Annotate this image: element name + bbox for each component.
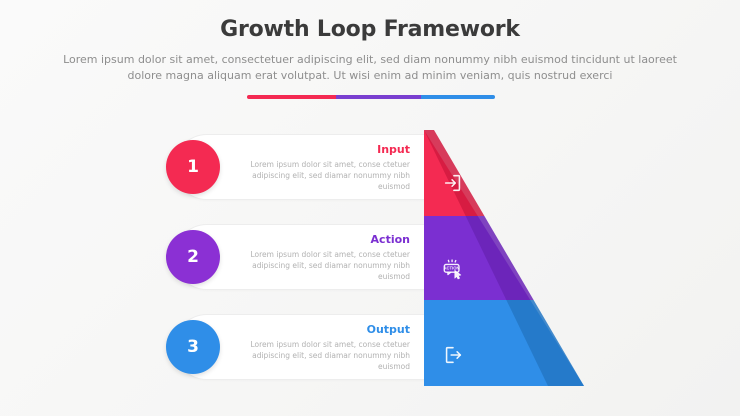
divider-segment-red [247,95,336,99]
list-item[interactable]: Output Lorem ipsum dolor sit amet, conse… [166,314,426,380]
step-description: Lorem ipsum dolor sit amet, conse ctetue… [242,339,410,372]
divider-segment-purple [336,95,420,99]
step-number: 1 [187,157,199,177]
step-card-text: Action Lorem ipsum dolor sit amet, conse… [242,233,410,282]
page-subtitle: Lorem ipsum dolor sit amet, consectetuer… [60,52,680,84]
step-number-badge: 1 [166,140,220,194]
step-number: 2 [187,247,199,267]
step-number-badge: 2 [166,230,220,284]
step-title: Output [242,323,410,337]
divider-segment-blue [421,95,495,99]
list-item[interactable]: Input Lorem ipsum dolor sit amet, conse … [166,134,426,200]
header: Growth Loop Framework Lorem ipsum dolor … [0,16,740,84]
step-number-badge: 3 [166,320,220,374]
step-description: Lorem ipsum dolor sit amet, conse ctetue… [242,249,410,282]
login-arrow-icon [442,172,464,194]
step-title: Input [242,143,410,157]
action-cursor-icon: ACTION [442,258,464,280]
step-description: Lorem ipsum dolor sit amet, conse ctetue… [242,159,410,192]
step-card-text: Input Lorem ipsum dolor sit amet, conse … [242,143,410,192]
step-list: Input Lorem ipsum dolor sit amet, conse … [166,134,426,380]
logout-arrow-icon [442,344,464,366]
step-number: 3 [187,337,199,357]
page-title: Growth Loop Framework [0,16,740,44]
pyramid-band-fill [424,300,584,386]
gradient-divider [247,95,495,99]
three-tier-pyramid: ACTION [424,130,584,386]
pyramid-band-output[interactable] [424,300,584,386]
step-title: Action [242,233,410,247]
action-bubble-label: ACTION [443,266,459,271]
step-card-text: Output Lorem ipsum dolor sit amet, conse… [242,323,410,372]
slide-canvas: Growth Loop Framework Lorem ipsum dolor … [0,0,740,416]
list-item[interactable]: Action Lorem ipsum dolor sit amet, conse… [166,224,426,290]
